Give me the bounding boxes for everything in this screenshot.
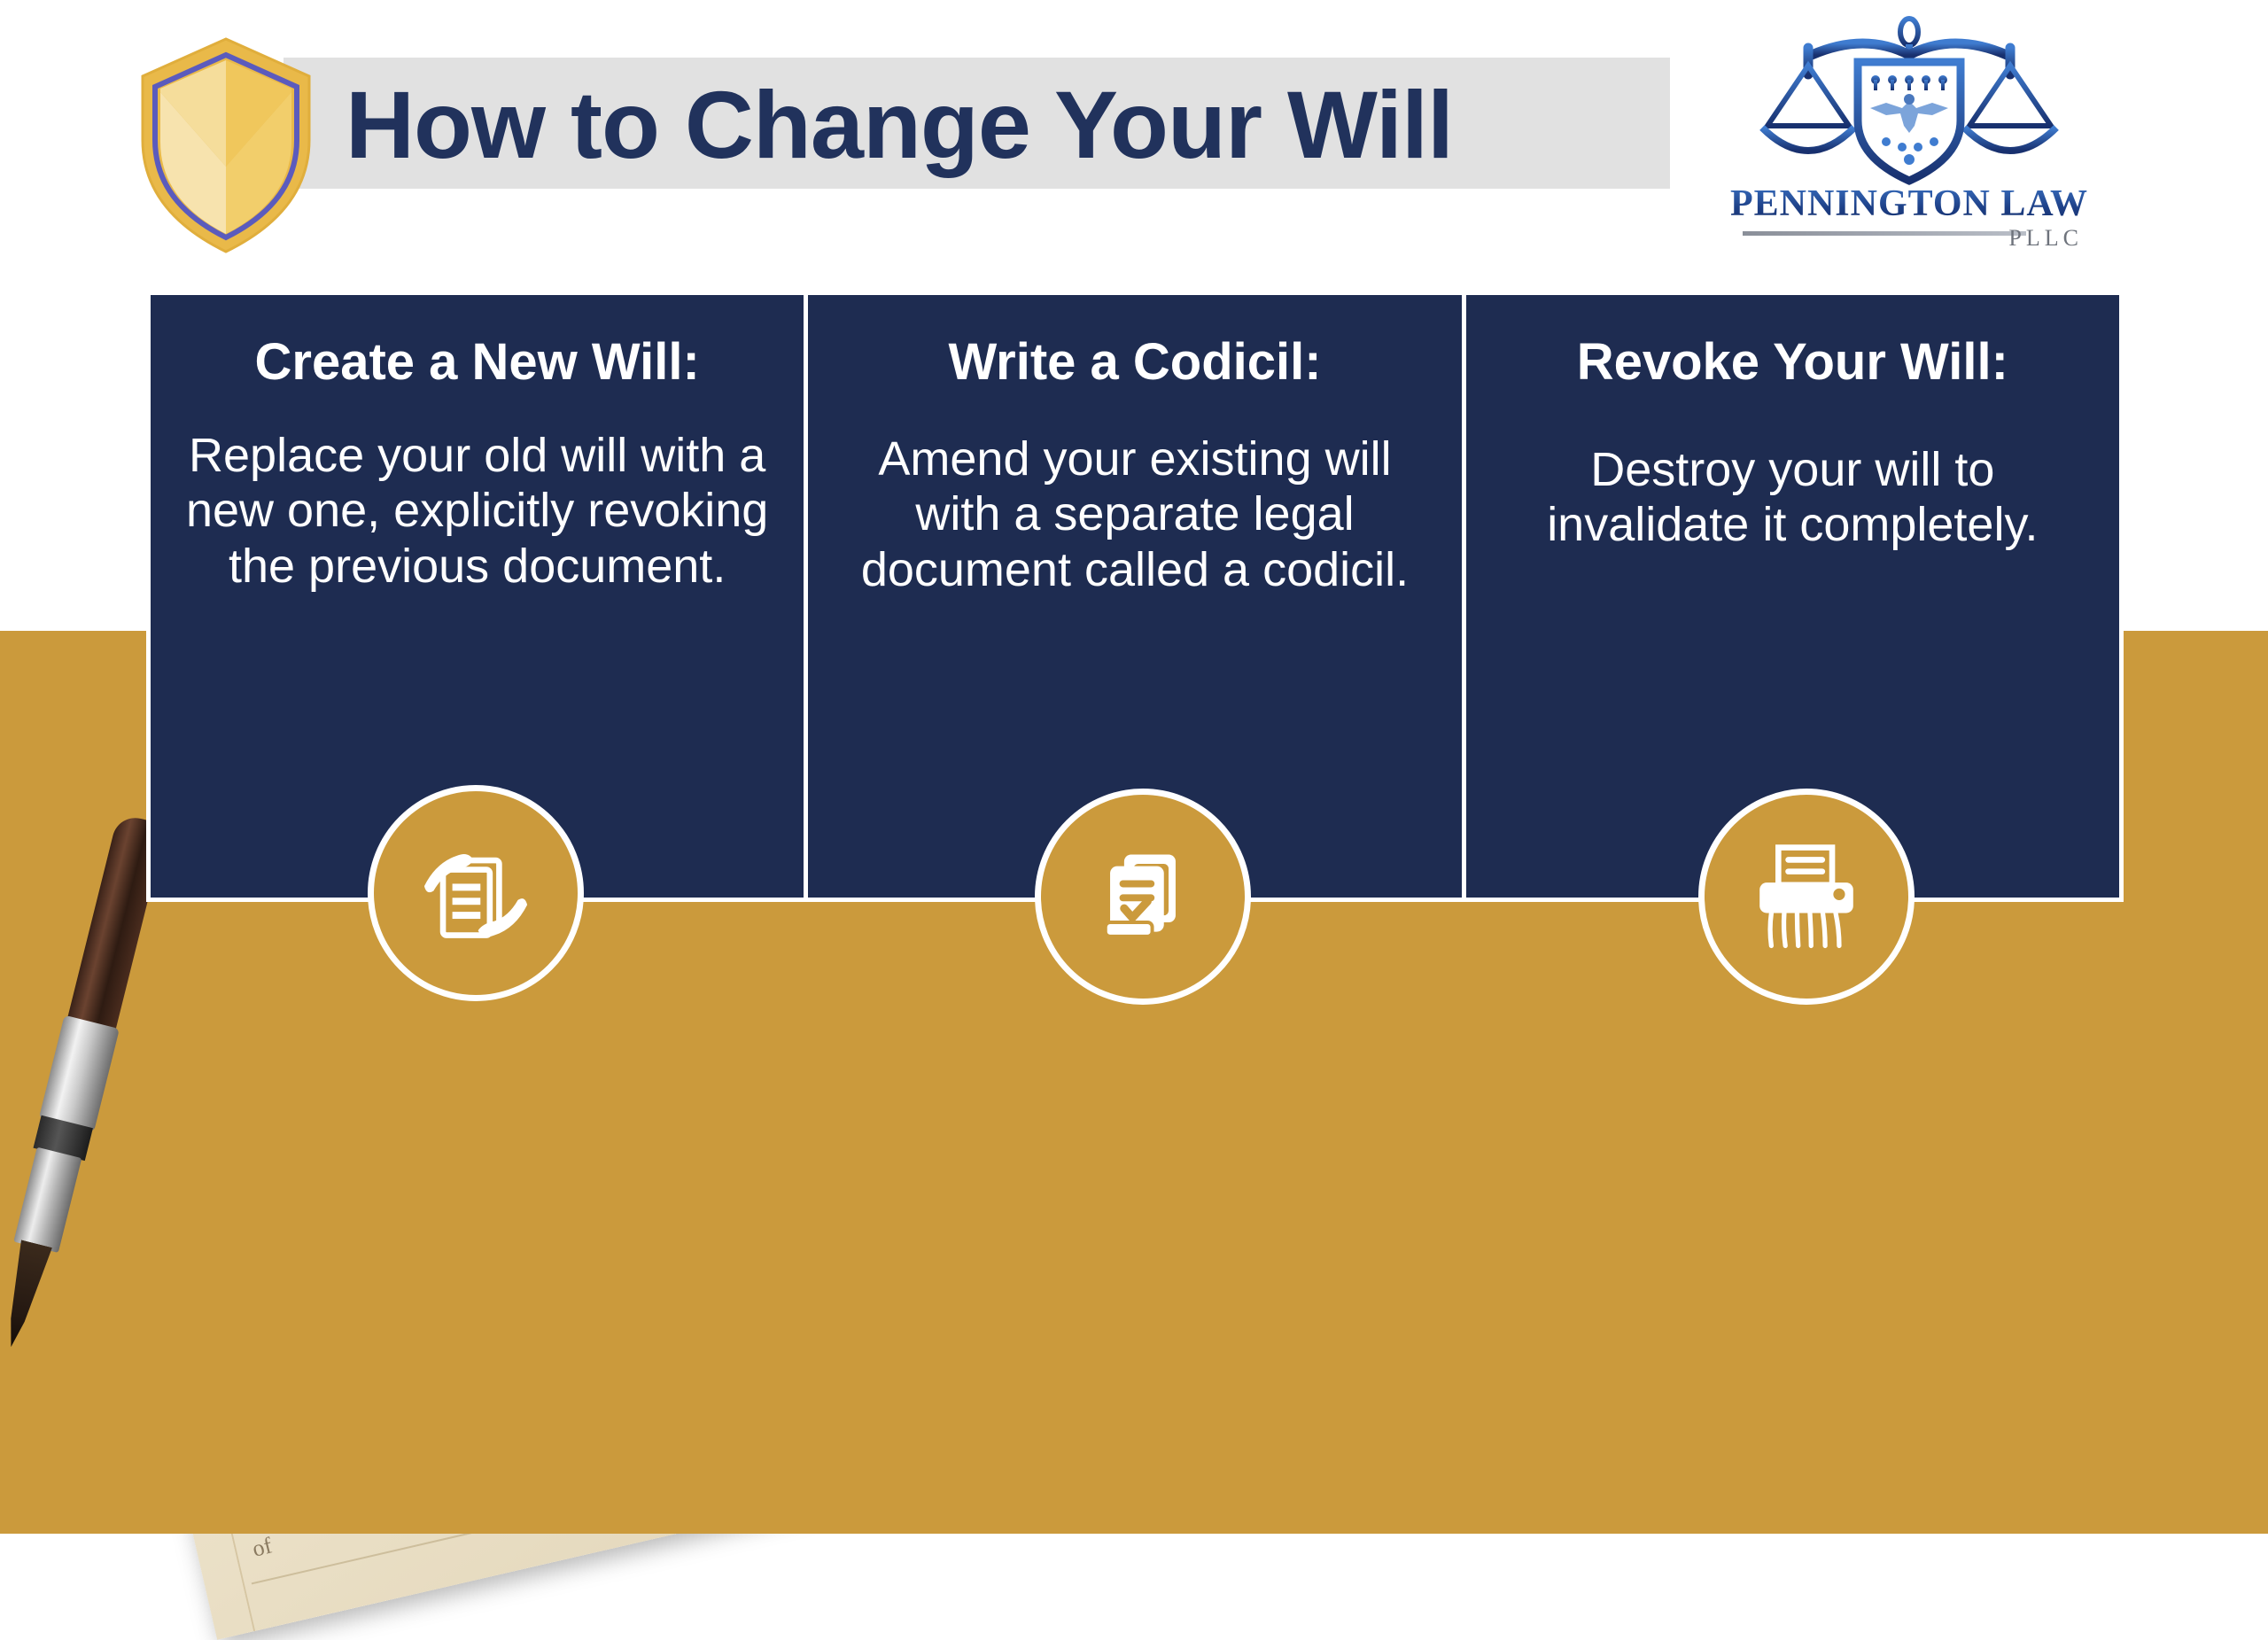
- paper-shredder-icon: [1698, 789, 1915, 1005]
- card-body: Replace your old will with a new one, ex…: [181, 428, 773, 595]
- card-body: Amend your existing will with a separate…: [838, 431, 1431, 598]
- stacked-documents-check-icon: [1035, 789, 1251, 1005]
- card-title: Write a Codicil:: [948, 334, 1321, 391]
- card-title: Create a New Will:: [255, 334, 700, 391]
- shield-icon: [137, 34, 315, 255]
- hands-holding-document-icon: [368, 785, 584, 1001]
- firm-logo: PENNINGTON LAW PLLC: [1723, 16, 2095, 264]
- firm-name: PENNINGTON LAW: [1723, 183, 2095, 225]
- page-header: How to Change Your Will: [0, 0, 2268, 266]
- scales-of-justice-shield-eagle-icon: [1750, 16, 2069, 186]
- card-title: Revoke Your Will:: [1577, 334, 2008, 391]
- card-body: Destroy your will to invalidate it compl…: [1496, 442, 2089, 553]
- firm-suffix: PLLC: [1723, 225, 2095, 252]
- page-title: How to Change Your Will: [346, 62, 1674, 186]
